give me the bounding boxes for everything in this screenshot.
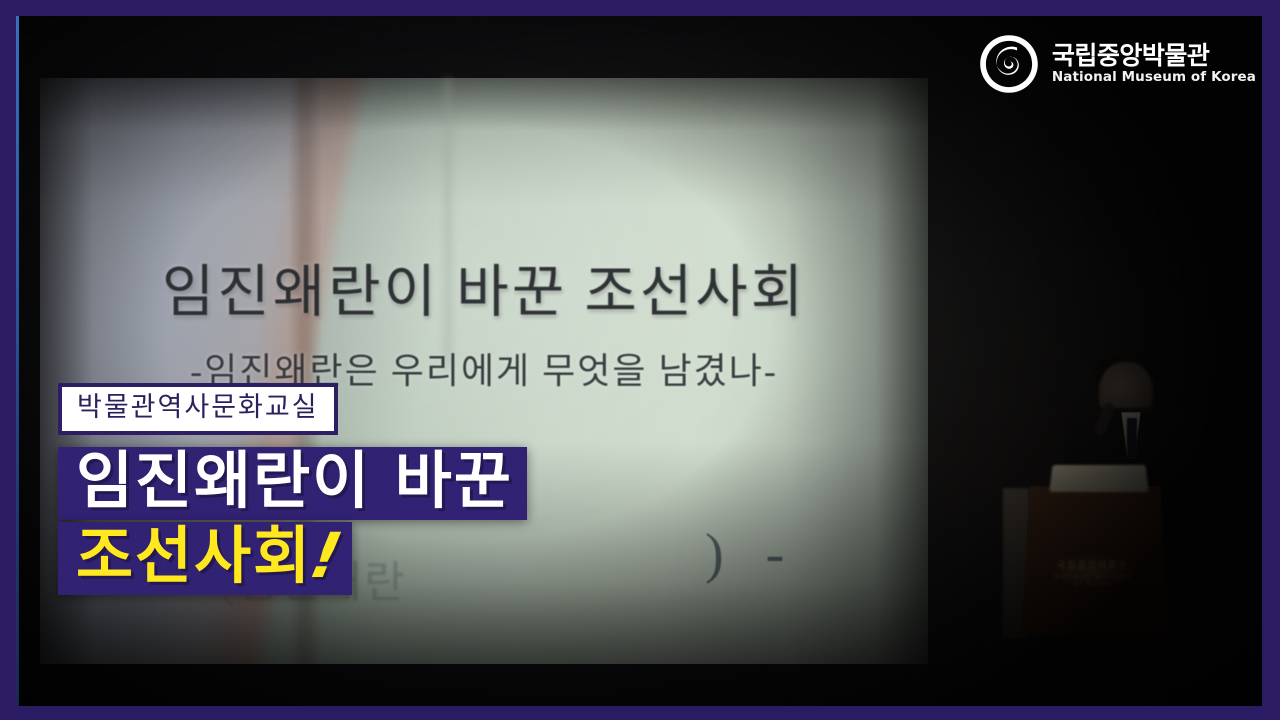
frame-border-bottom xyxy=(0,706,1280,720)
frame-accent-line xyxy=(16,16,19,706)
podium-nameplate-line-2: National Museum of Korea xyxy=(1053,574,1133,588)
swirl-logo-icon xyxy=(979,34,1039,94)
title-band-line-2: 조선사회! xyxy=(58,522,352,595)
logo-korean-name: 국립중앙박물관 xyxy=(1052,43,1256,68)
museum-logo: 국립중앙박물관 National Museum of Korea xyxy=(979,34,1256,94)
title-line-2-text: 조선사회! xyxy=(76,524,342,587)
frame-border-top xyxy=(0,0,1280,16)
lecture-photo: 임진왜란이 바꾼 조선사회 -임진왜란은 우리에게 무엇을 남겼나- (임진왜란… xyxy=(18,16,1262,706)
podium-nameplate-line-1: 국립중앙박물관 xyxy=(1053,558,1133,571)
speaker-at-podium: 국립중앙박물관 National Museum of Korea xyxy=(1003,346,1253,706)
title-line-2-word: 조선사회 xyxy=(76,519,312,592)
program-label-box: 박물관역사문화교실 xyxy=(58,383,338,435)
program-label-text: 박물관역사문화교실 xyxy=(77,392,319,424)
logo-english-name: National Museum of Korea xyxy=(1052,71,1256,85)
title-band-line-1: 임진왜란이 바꾼 xyxy=(58,447,527,520)
video-thumbnail: 임진왜란이 바꾼 조선사회 -임진왜란은 우리에게 무엇을 남겼나- (임진왜란… xyxy=(0,0,1280,720)
slide-handwriting-fragment: ) - xyxy=(705,522,798,586)
slide-title: 임진왜란이 바꾼 조선사회 xyxy=(40,246,928,328)
speaker-tie xyxy=(1127,418,1137,458)
logo-text-block: 국립중앙박물관 National Museum of Korea xyxy=(1052,43,1256,85)
title-overlay: 박물관역사문화교실 임진왜란이 바꾼 조선사회! xyxy=(58,383,527,595)
program-label-panel: 박물관역사문화교실 xyxy=(62,387,334,431)
title-line-1-text: 임진왜란이 바꾼 xyxy=(76,449,513,512)
laptop xyxy=(1049,465,1148,492)
frame-border-right xyxy=(1262,0,1280,720)
